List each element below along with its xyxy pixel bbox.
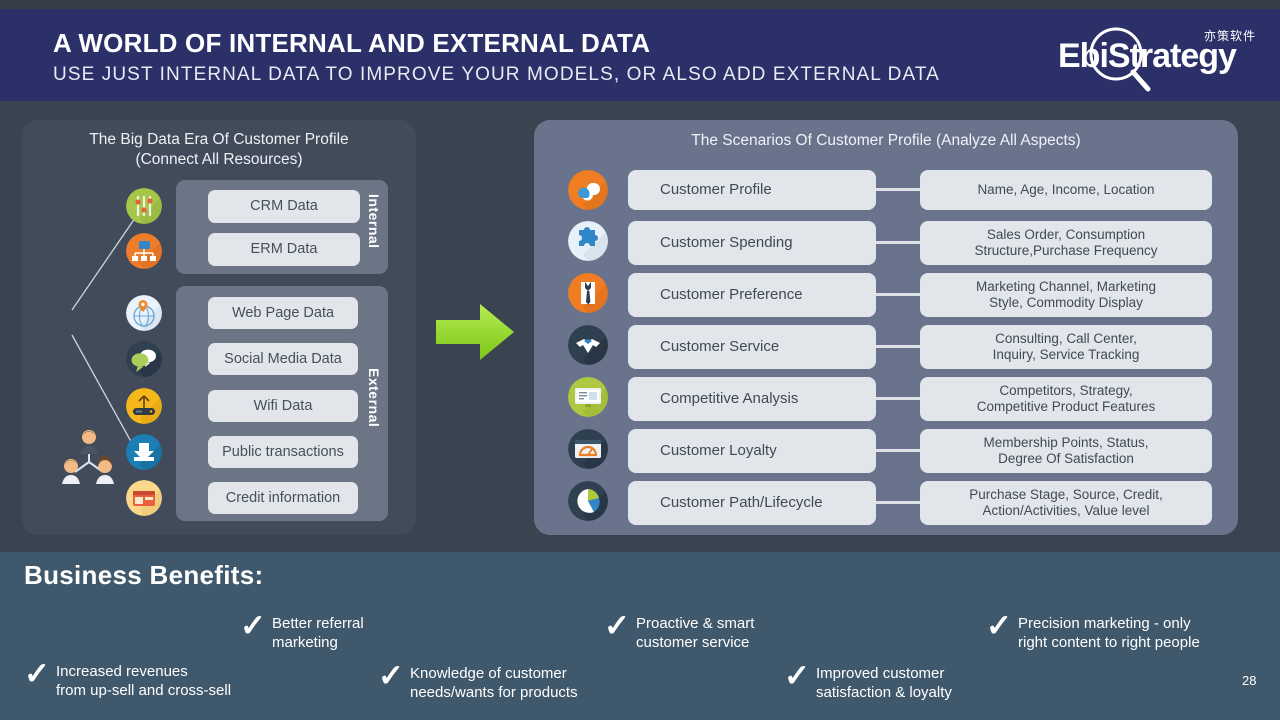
- benefit-text-5: Precision marketing - only right content…: [1018, 612, 1200, 652]
- benefit-text-4: Improved customer satisfaction & loyalty: [816, 662, 952, 702]
- pill-crm-data[interactable]: CRM Data: [208, 190, 360, 223]
- scenario-name-2[interactable]: Customer Preference: [628, 273, 876, 317]
- pill-credit-information[interactable]: Credit information: [208, 482, 358, 514]
- pie-chart-icon: [568, 481, 608, 521]
- benefit-item-2: ✓ Knowledge of customer needs/wants for …: [378, 662, 648, 702]
- connector-1: [876, 241, 920, 244]
- business-benefits-section: Business Benefits: ✓ Increased revenues …: [0, 552, 1280, 720]
- scenario-name-5[interactable]: Customer Loyalty: [628, 429, 876, 473]
- benefit-item-1: ✓ Better referral marketing: [240, 612, 460, 652]
- check-icon: ✓: [24, 660, 50, 690]
- pill-public-transactions[interactable]: Public transactions: [208, 436, 358, 468]
- scenario-name-3[interactable]: Customer Service: [628, 325, 876, 369]
- page-title: A WORLD OF INTERNAL AND EXTERNAL DATA: [53, 28, 650, 59]
- scenario-desc-1[interactable]: Sales Order, Consumption Structure,Purch…: [920, 221, 1212, 265]
- page-number: 28: [1242, 673, 1256, 688]
- pill-wifi-data[interactable]: Wifi Data: [208, 390, 358, 422]
- top-strip: [0, 0, 1280, 9]
- people-network-icon: [58, 428, 120, 488]
- pill-social-media-data[interactable]: Social Media Data: [208, 343, 358, 375]
- header-band: A WORLD OF INTERNAL AND EXTERNAL DATA US…: [0, 9, 1280, 101]
- scenario-name-1[interactable]: Customer Spending: [628, 221, 876, 265]
- dashboard-gauge-icon: [568, 429, 608, 469]
- scenario-name-6[interactable]: Customer Path/Lifecycle: [628, 481, 876, 525]
- globe-pin-icon: [126, 295, 162, 331]
- monitor-report-icon: [568, 377, 608, 417]
- handshake-icon: [568, 325, 608, 365]
- benefits-title: Business Benefits:: [24, 560, 263, 591]
- chat-bubbles-icon: [126, 341, 162, 377]
- connector-0: [876, 188, 920, 191]
- shirt-tie-icon: [568, 273, 608, 313]
- benefit-text-3: Proactive & smart customer service: [636, 612, 754, 652]
- internal-label: Internal: [366, 194, 382, 249]
- right-panel: The Scenarios Of Customer Profile (Analy…: [534, 120, 1238, 535]
- right-panel-title: The Scenarios Of Customer Profile (Analy…: [534, 132, 1238, 150]
- slide-root: A WORLD OF INTERNAL AND EXTERNAL DATA US…: [0, 0, 1280, 720]
- external-label: External: [366, 368, 382, 427]
- scenario-name-0[interactable]: Customer Profile: [628, 170, 876, 210]
- company-logo: 亦策软件 EbiStrategy: [1050, 23, 1258, 93]
- scenario-desc-6[interactable]: Purchase Stage, Source, Credit, Action/A…: [920, 481, 1212, 525]
- cloud-icon: [568, 170, 608, 210]
- benefit-item-4: ✓ Improved customer satisfaction & loyal…: [784, 662, 1034, 702]
- sliders-icon: [126, 188, 162, 224]
- pill-web-page-data[interactable]: Web Page Data: [208, 297, 358, 329]
- connector-6: [876, 501, 920, 504]
- puzzle-piece-icon: [568, 221, 608, 261]
- pill-erm-data[interactable]: ERM Data: [208, 233, 360, 266]
- check-icon: ✓: [784, 662, 810, 692]
- flow-arrow-right: [434, 300, 516, 364]
- connector-3: [876, 345, 920, 348]
- check-icon: ✓: [986, 612, 1012, 642]
- scenario-desc-5[interactable]: Membership Points, Status, Degree Of Sat…: [920, 429, 1212, 473]
- org-chart-icon: [126, 233, 162, 269]
- benefit-text-2: Knowledge of customer needs/wants for pr…: [410, 662, 578, 702]
- connector-2: [876, 293, 920, 296]
- left-panel: The Big Data Era Of Customer Profile (Co…: [22, 120, 416, 535]
- download-arrow-icon: [126, 434, 162, 470]
- benefit-item-0: ✓ Increased revenues from up-sell and cr…: [24, 660, 284, 700]
- scenario-name-4[interactable]: Competitive Analysis: [628, 377, 876, 421]
- benefit-text-1: Better referral marketing: [272, 612, 364, 652]
- benefit-item-3: ✓ Proactive & smart customer service: [604, 612, 844, 652]
- credit-card-icon: [126, 480, 162, 516]
- check-icon: ✓: [240, 612, 266, 642]
- page-subtitle: USE JUST INTERNAL DATA TO IMPROVE YOUR M…: [53, 64, 940, 86]
- connector-4: [876, 397, 920, 400]
- scenario-desc-4[interactable]: Competitors, Strategy, Competitive Produ…: [920, 377, 1212, 421]
- connector-5: [876, 449, 920, 452]
- benefit-item-5: ✓ Precision marketing - only right conte…: [986, 612, 1276, 652]
- benefit-text-0: Increased revenues from up-sell and cros…: [56, 660, 231, 700]
- check-icon: ✓: [604, 612, 630, 642]
- wifi-router-icon: [126, 388, 162, 424]
- scenario-desc-3[interactable]: Consulting, Call Center, Inquiry, Servic…: [920, 325, 1212, 369]
- check-icon: ✓: [378, 662, 404, 692]
- magnifier-icon: [1086, 27, 1152, 93]
- scenario-desc-2[interactable]: Marketing Channel, Marketing Style, Comm…: [920, 273, 1212, 317]
- scenario-desc-0[interactable]: Name, Age, Income, Location: [920, 170, 1212, 210]
